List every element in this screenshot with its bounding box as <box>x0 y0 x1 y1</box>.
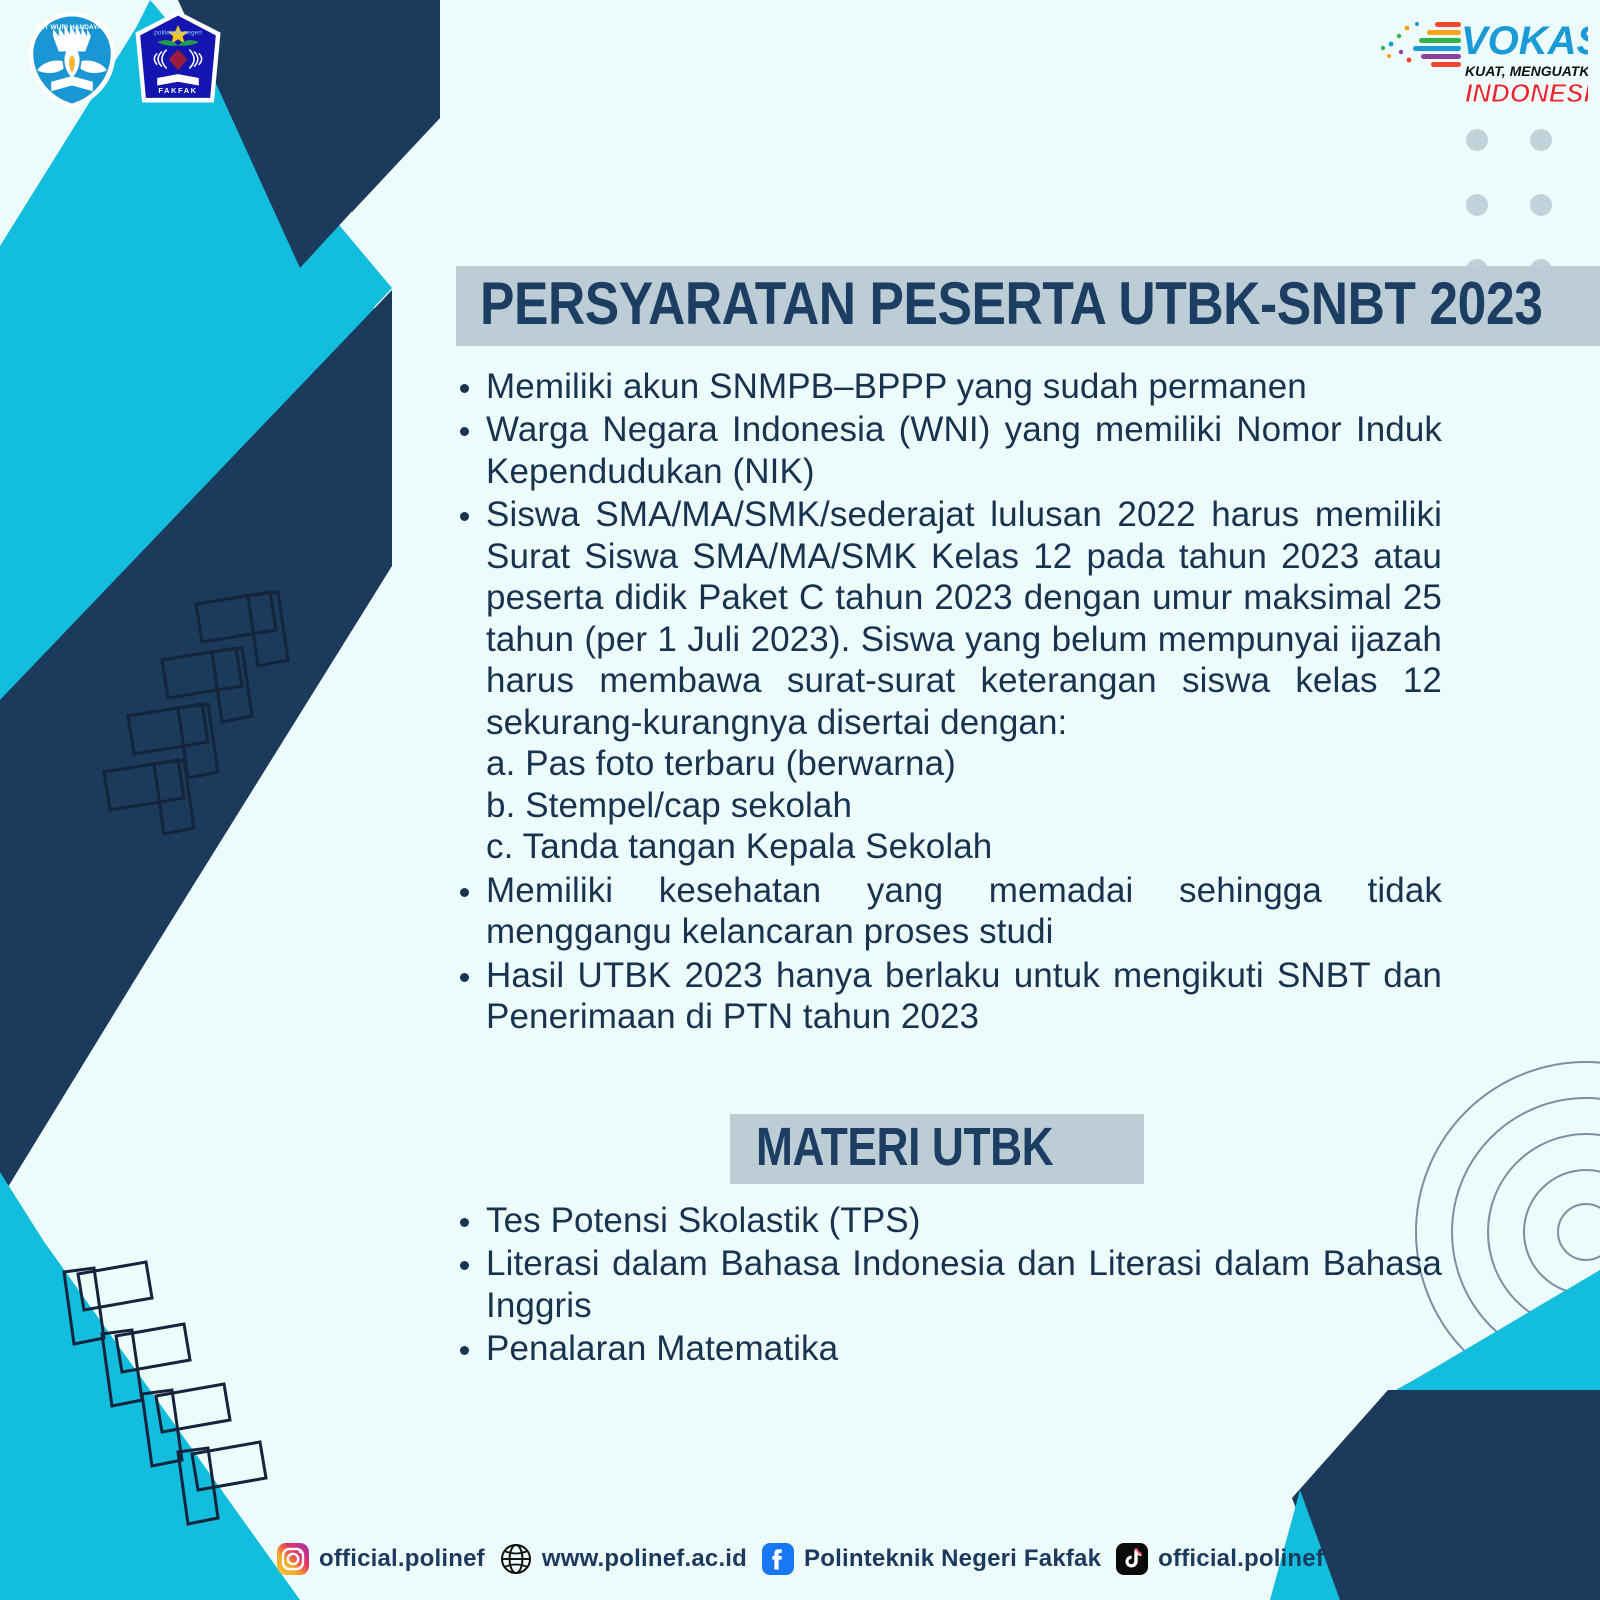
list-item-text: Penalaran Matematika <box>486 1329 838 1368</box>
contact-facebook[interactable]: Polinteknik Negeri Fakfak <box>761 1542 1101 1576</box>
section-heading-materi-wrap: MATERI UTBK <box>432 1114 1442 1184</box>
polinef-caption-top: politeknik negeri <box>154 29 202 36</box>
list-item-text: Literasi dalam Bahasa Indonesia dan Lite… <box>486 1244 1442 1324</box>
list-item: Memiliki akun SNMPB–BPPP yang sudah perm… <box>446 366 1442 407</box>
instagram-icon[interactable] <box>276 1542 310 1576</box>
tut-wuri-caption: TUT WURI HANDAYANI <box>36 24 109 31</box>
poster-canvas: TUT WURI HANDAYANI politeknik negeri FAK… <box>0 0 1600 1600</box>
heading-band-materi: MATERI UTBK <box>730 1114 1144 1184</box>
content-column: PERSYARATAN PESERTA UTBK-SNBT 2023 Memil… <box>432 0 1442 1600</box>
list-item: Penalaran Matematika <box>446 1328 1442 1369</box>
polinef-caption-bottom: FAKFAK <box>158 86 197 95</box>
list-item-text: Memiliki akun SNMPB–BPPP yang sudah perm… <box>486 367 1307 406</box>
contact-label: official.polinef <box>319 1545 485 1573</box>
facebook-icon[interactable] <box>761 1542 795 1576</box>
section-heading-materi: MATERI UTBK <box>756 1120 1053 1174</box>
contact-instagram[interactable]: official.polinef <box>276 1542 485 1576</box>
tut-wuri-handayani-logo: TUT WURI HANDAYANI <box>24 8 120 112</box>
list-subitem: b. Stempel/cap sekolah <box>486 785 1442 826</box>
list-item-text: Tes Potensi Skolastik (TPS) <box>486 1201 921 1240</box>
list-item: Siswa SMA/MA/SMK/sederajat lulusan 2022 … <box>446 494 1442 867</box>
politeknik-negeri-fakfak-logo: politeknik negeri FAKFAK <box>130 8 226 112</box>
contact-label: official.polinef <box>1158 1545 1324 1573</box>
list-item: Hasil UTBK 2023 hanya berlaku untuk meng… <box>446 955 1442 1038</box>
heading-band-persyaratan: PERSYARATAN PESERTA UTBK-SNBT 2023 <box>456 266 1600 346</box>
contact-label: Polinteknik Negeri Fakfak <box>804 1545 1101 1573</box>
section-heading-persyaratan: PERSYARATAN PESERTA UTBK-SNBT 2023 <box>480 274 1542 334</box>
list-subitem: c. Tanda tangan Kepala Sekolah <box>486 826 1442 867</box>
vokasi-logo: VOKASI KUAT, MENGUATKAN INDONESIA <box>1373 6 1588 110</box>
contact-website[interactable]: www.polinef.ac.id <box>499 1542 747 1576</box>
materi-list: Tes Potensi Skolastik (TPS) Literasi dal… <box>446 1200 1442 1372</box>
vokasi-indonesia: INDONESIA <box>1465 78 1588 108</box>
list-subitem: a. Pas foto terbaru (berwarna) <box>486 743 1442 784</box>
list-item-text: Hasil UTBK 2023 hanya berlaku untuk meng… <box>486 956 1442 1036</box>
list-item-text: Memiliki kesehatan yang memadai sehingga… <box>486 871 1442 951</box>
contact-tiktok[interactable]: official.polinef <box>1115 1542 1324 1576</box>
vokasi-wordmark: VOKASI <box>1461 19 1588 63</box>
list-item: Tes Potensi Skolastik (TPS) <box>446 1200 1442 1241</box>
tiktok-icon[interactable] <box>1115 1542 1149 1576</box>
requirements-list: Memiliki akun SNMPB–BPPP yang sudah perm… <box>446 366 1442 1040</box>
institution-logos: TUT WURI HANDAYANI politeknik negeri FAK… <box>24 8 226 112</box>
globe-icon[interactable] <box>499 1542 533 1576</box>
section-heading-persyaratan-wrap: PERSYARATAN PESERTA UTBK-SNBT 2023 <box>456 266 1600 346</box>
vokasi-speed-dots <box>1381 22 1461 67</box>
list-item: Warga Negara Indonesia (WNI) yang memili… <box>446 409 1442 492</box>
list-item-text: Siswa SMA/MA/SMK/sederajat lulusan 2022 … <box>486 495 1442 741</box>
list-item: Memiliki kesehatan yang memadai sehingga… <box>446 870 1442 953</box>
footer-contacts: official.polinef www.polinef.ac.id Polin… <box>0 1542 1600 1576</box>
vokasi-tagline: KUAT, MENGUATKAN <box>1465 63 1588 79</box>
contact-label: www.polinef.ac.id <box>542 1545 747 1573</box>
list-item: Literasi dalam Bahasa Indonesia dan Lite… <box>446 1243 1442 1326</box>
list-item-text: Warga Negara Indonesia (WNI) yang memili… <box>486 410 1442 490</box>
